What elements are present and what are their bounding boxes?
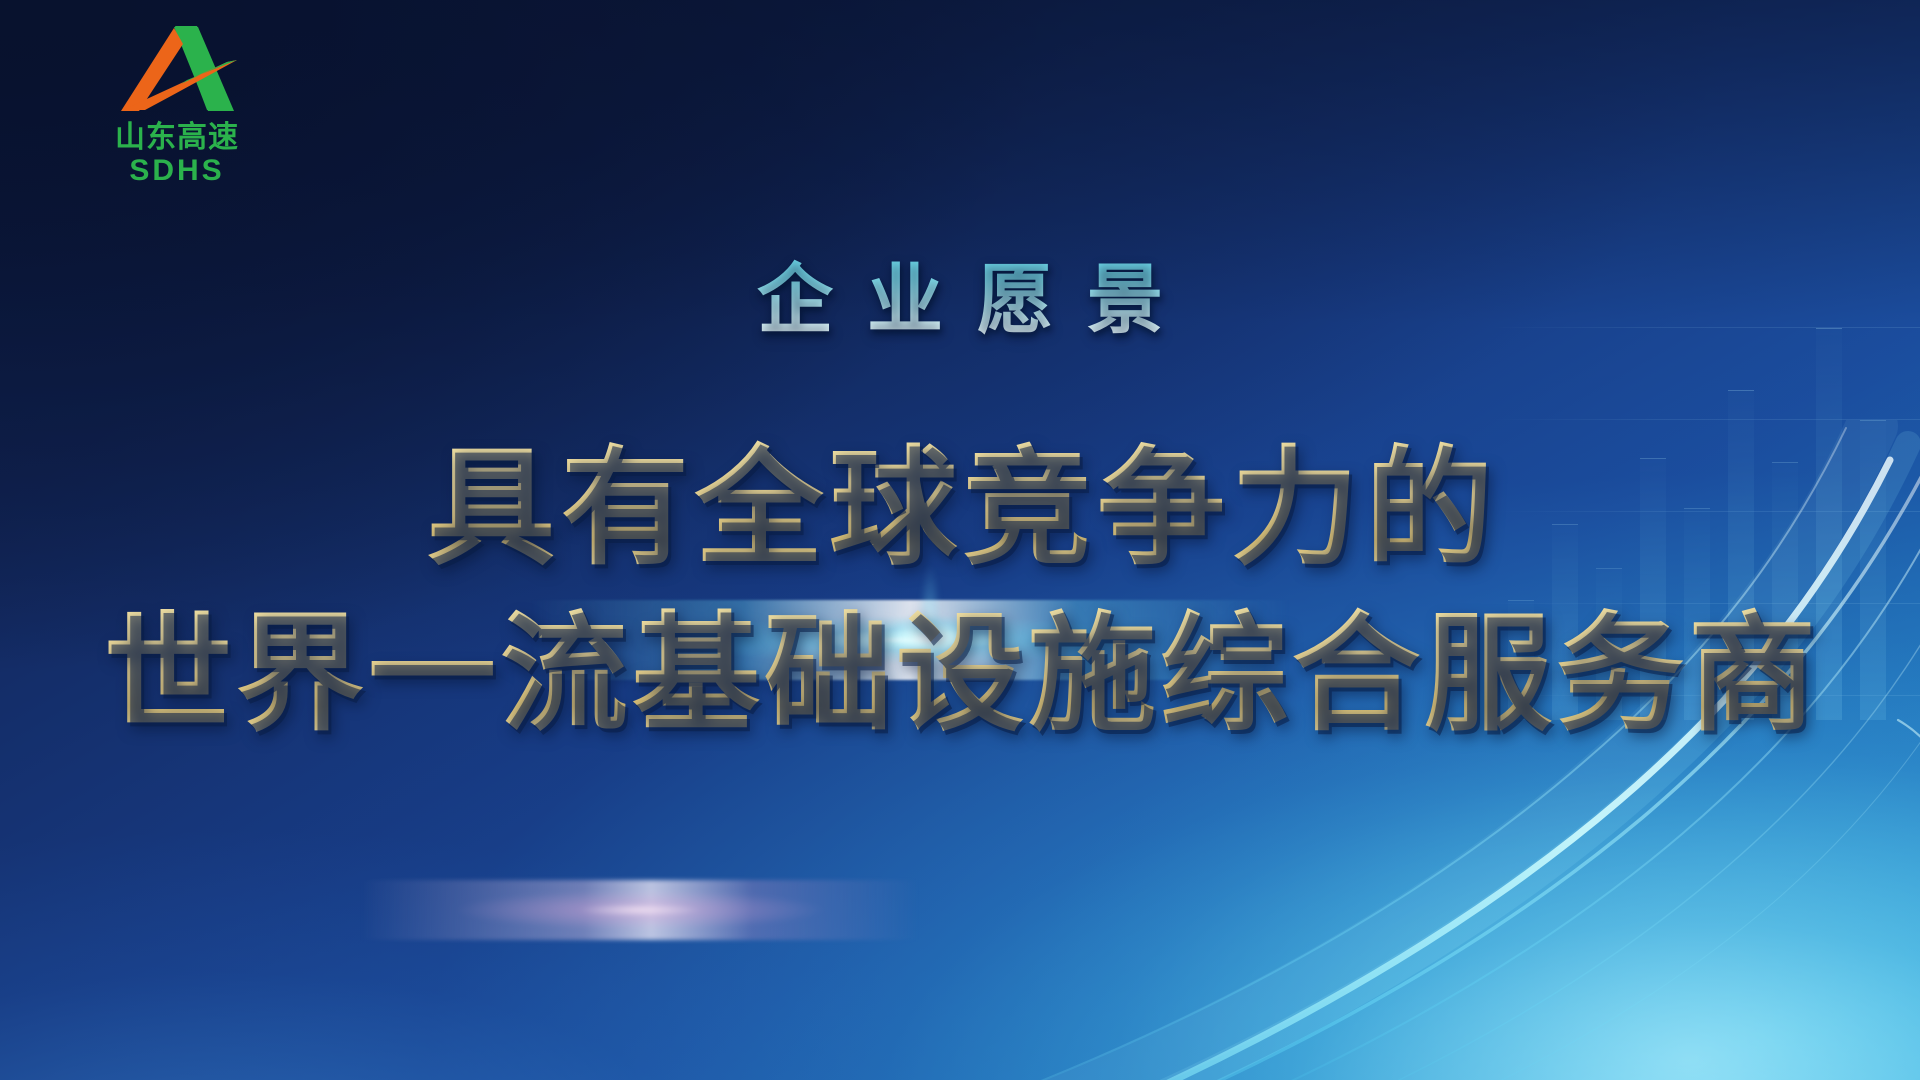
- logo-company-en: SDHS: [92, 154, 262, 187]
- headline-line-2: 世界一流基础设施综合服务商: [0, 570, 1920, 755]
- slide-canvas: 山东高速 SDHS 企业愿景 具有全球竞争力的 世界一流基础设施综合服务商: [0, 0, 1920, 1080]
- logo-company-cn: 山东高速: [92, 122, 262, 154]
- headline-line-1-text: 具有全球竞争力的: [427, 438, 1499, 580]
- sdhs-arrow-mark: [111, 22, 243, 118]
- headline-line-2-text: 世界一流基础设施综合服务商: [104, 604, 1820, 746]
- light-flare-secondary: [360, 880, 920, 940]
- headline-line-1: 具有全球竞争力的: [0, 404, 1920, 589]
- sdhs-logo: 山东高速 SDHS: [92, 22, 262, 187]
- vision-eyebrow-title: 企业愿景: [0, 238, 1920, 348]
